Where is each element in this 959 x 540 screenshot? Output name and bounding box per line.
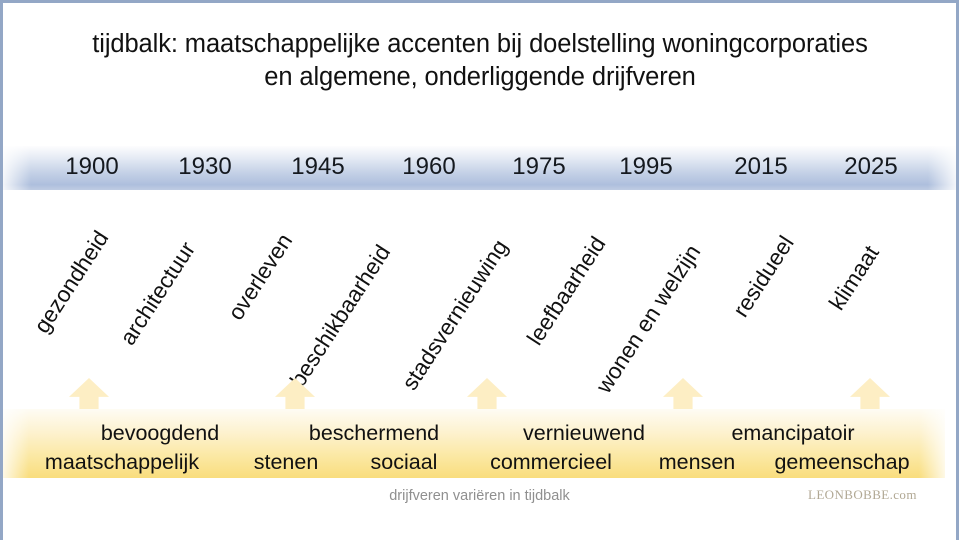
year-band-fade-left <box>3 146 31 190</box>
timeline-year-1930: 1930 <box>178 153 231 181</box>
timeline-year-1960: 1960 <box>402 153 455 181</box>
accent-label-leefbaarheid: leefbaarheid <box>522 232 611 350</box>
slide-canvas: tijdbalk: maatschappelijke accenten bij … <box>0 0 959 540</box>
timeline-year-1995: 1995 <box>619 153 672 181</box>
driver-band-fade-left <box>3 409 29 478</box>
timeline-year-1900: 1900 <box>65 153 118 181</box>
driver-label-mensen: mensen <box>659 450 736 475</box>
accent-label-wonen-en-welzijn: wonen en welzijn <box>591 240 706 398</box>
driver-label-maatschappelijk: maatschappelijk <box>45 450 199 475</box>
driver-label-beschermend: beschermend <box>309 421 439 446</box>
driver-label-stenen: stenen <box>254 450 319 475</box>
frame-border-top <box>0 0 959 3</box>
timeline-year-band: 19001930194519601975199520152025 <box>3 146 956 190</box>
accent-label-residueel: residueel <box>728 231 800 322</box>
slide-title-line-2: en algemene, onderliggende drijfveren <box>30 61 930 94</box>
watermark: LEONBOBBE.com <box>808 487 917 503</box>
timeline-year-1945: 1945 <box>291 153 344 181</box>
driver-label-commercieel: commercieel <box>490 450 612 475</box>
accent-label-architectuur: architectuur <box>115 237 201 350</box>
timeline-year-2025: 2025 <box>844 153 897 181</box>
driver-label-bevoogdend: bevoogdend <box>101 421 219 446</box>
accent-label-overleven: overleven <box>223 229 298 325</box>
slide-title: tijdbalk: maatschappelijke accenten bij … <box>30 28 930 94</box>
accent-label-gezondheid: gezondheid <box>29 226 114 338</box>
driver-label-gemeenschap: gemeenschap <box>774 450 909 475</box>
driver-label-vernieuwend: vernieuwend <box>523 421 645 446</box>
accent-label-stadsvernieuwing: stadsvernieuwing <box>397 235 513 395</box>
accent-label-beschikbaarheid: beschikbaarheid <box>285 240 396 392</box>
timeline-year-2015: 2015 <box>734 153 787 181</box>
accent-label-klimaat: klimaat <box>824 241 885 315</box>
driver-label-emancipatoir: emancipatoir <box>731 421 854 446</box>
driver-label-sociaal: sociaal <box>371 450 438 475</box>
year-band-fade-right <box>928 146 956 190</box>
slide-title-line-1: tijdbalk: maatschappelijke accenten bij … <box>92 30 867 58</box>
driver-band-fade-right <box>919 409 945 478</box>
timeline-year-1975: 1975 <box>512 153 565 181</box>
driver-band: bevoogdendbeschermendvernieuwendemancipa… <box>3 409 945 478</box>
